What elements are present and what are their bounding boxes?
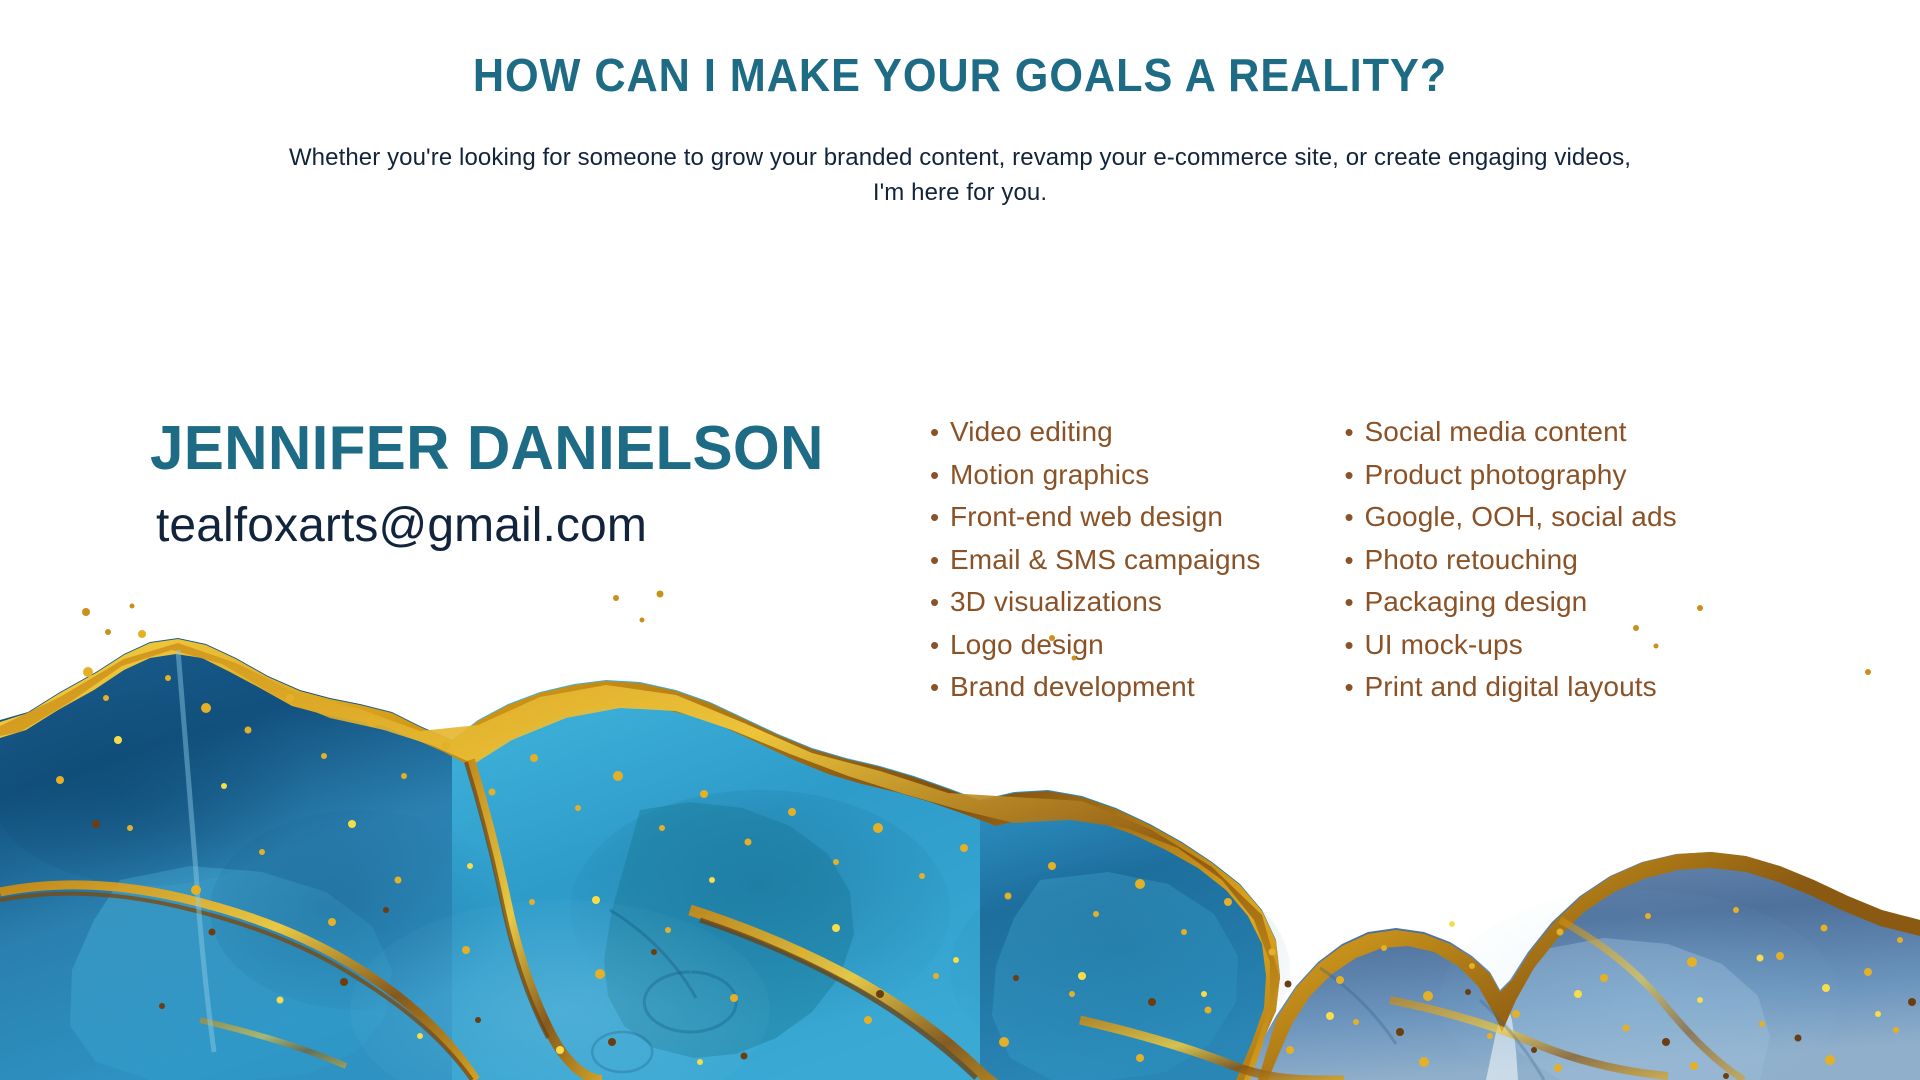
list-item: • Photo retouching xyxy=(1344,546,1676,574)
bullet-icon: • xyxy=(930,504,950,530)
bullet-icon: • xyxy=(1344,674,1364,700)
bullet-icon: • xyxy=(1344,504,1364,530)
list-item: • Print and digital layouts xyxy=(1344,673,1676,701)
list-item: • Front-end web design xyxy=(930,503,1260,531)
slide-canvas: HOW CAN I MAKE YOUR GOALS A REALITY? Whe… xyxy=(0,0,1920,1080)
service-label: Video editing xyxy=(950,418,1113,446)
list-item: • Google, OOH, social ads xyxy=(1344,503,1676,531)
bullet-icon: • xyxy=(1344,462,1364,488)
bullet-icon: • xyxy=(930,462,950,488)
service-column-right: • Social media content • Product photogr… xyxy=(1344,418,1676,716)
bullet-icon: • xyxy=(930,547,950,573)
bullet-icon: • xyxy=(930,632,950,658)
service-label: Print and digital layouts xyxy=(1364,673,1656,701)
bullet-icon: • xyxy=(1344,547,1364,573)
list-item: • Social media content xyxy=(1344,418,1676,446)
services-columns: • Video editing • Motion graphics • Fron… xyxy=(930,418,1677,716)
list-item: • 3D visualizations xyxy=(930,588,1260,616)
service-label: Email & SMS campaigns xyxy=(950,546,1260,574)
service-label: Front-end web design xyxy=(950,503,1223,531)
service-label: UI mock-ups xyxy=(1364,631,1522,659)
bullet-icon: • xyxy=(930,589,950,615)
service-label: Photo retouching xyxy=(1364,546,1578,574)
bullet-icon: • xyxy=(1344,419,1364,445)
service-label: Product photography xyxy=(1364,461,1626,489)
person-email[interactable]: tealfoxarts@gmail.com xyxy=(156,502,890,550)
bullet-icon: • xyxy=(1344,632,1364,658)
service-column-left: • Video editing • Motion graphics • Fron… xyxy=(930,418,1260,716)
subtitle-text: Whether you're looking for someone to gr… xyxy=(280,140,1640,210)
page-title: HOW CAN I MAKE YOUR GOALS A REALITY? xyxy=(58,48,1863,102)
list-item: • Product photography xyxy=(1344,461,1676,489)
list-item: • Brand development xyxy=(930,673,1260,701)
service-label: Social media content xyxy=(1364,418,1626,446)
service-label: Brand development xyxy=(950,673,1195,701)
service-label: Google, OOH, social ads xyxy=(1364,503,1676,531)
service-label: 3D visualizations xyxy=(950,588,1162,616)
list-item: • Motion graphics xyxy=(930,461,1260,489)
service-label: Motion graphics xyxy=(950,461,1149,489)
person-name: JENNIFER DANIELSON xyxy=(150,418,868,480)
bullet-icon: • xyxy=(930,419,950,445)
contact-block: JENNIFER DANIELSON tealfoxarts@gmail.com xyxy=(150,418,890,550)
bullet-icon: • xyxy=(1344,589,1364,615)
list-item: • Video editing xyxy=(930,418,1260,446)
list-item: • UI mock-ups xyxy=(1344,631,1676,659)
list-item: • Packaging design xyxy=(1344,588,1676,616)
service-label: Packaging design xyxy=(1364,588,1587,616)
list-item: • Logo design xyxy=(930,631,1260,659)
list-item: • Email & SMS campaigns xyxy=(930,546,1260,574)
bullet-icon: • xyxy=(930,674,950,700)
service-label: Logo design xyxy=(950,631,1104,659)
